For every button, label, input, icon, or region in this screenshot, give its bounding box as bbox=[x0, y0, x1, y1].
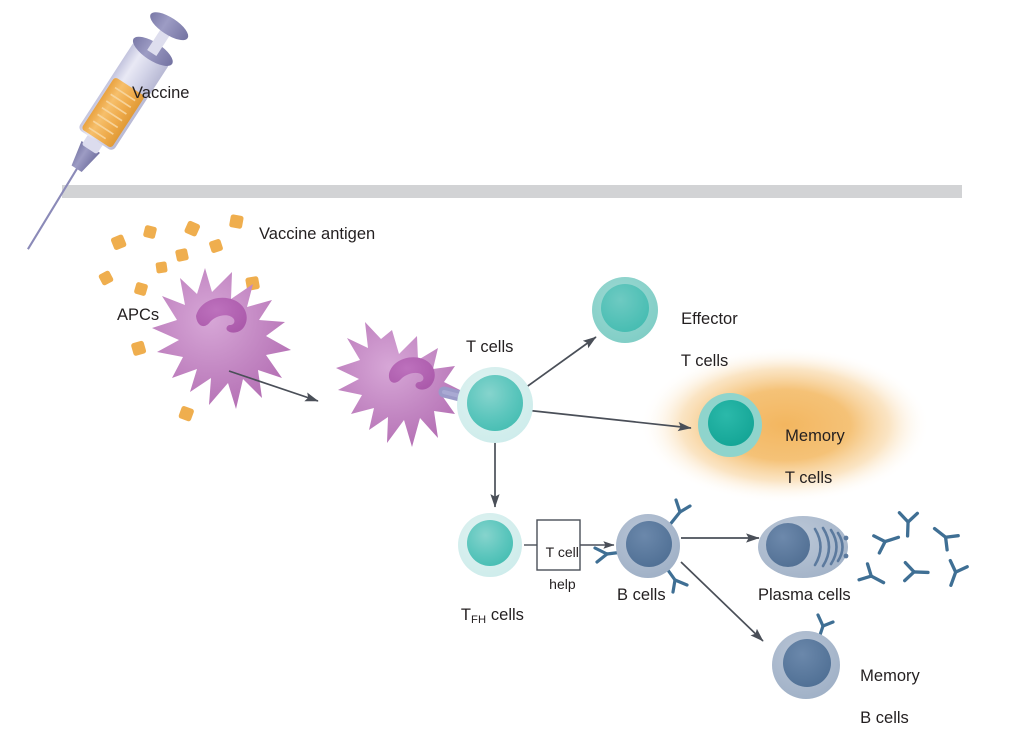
label-b-cells: B cells bbox=[617, 585, 666, 605]
label-memory-b-cells: Memory B cells bbox=[851, 645, 920, 729]
tfh-cell bbox=[458, 513, 522, 577]
arrow-bcell-to-memory-b bbox=[681, 562, 763, 641]
arrow-apc1-to-apc2 bbox=[229, 371, 318, 401]
effector-t-cell bbox=[592, 277, 658, 343]
label-t-cell-help-line2: help bbox=[549, 576, 575, 592]
plasma-cell bbox=[758, 516, 848, 578]
diagram-canvas: Vaccine Vaccine antigen APCs T cells Eff… bbox=[0, 0, 1024, 725]
t-cell bbox=[457, 367, 533, 443]
label-t-cell-help: T cell help bbox=[537, 528, 580, 592]
label-tfh-suffix: cells bbox=[486, 606, 524, 624]
skin-surface-bar bbox=[62, 185, 962, 198]
memory-b-cell bbox=[772, 615, 840, 699]
label-vaccine: Vaccine bbox=[132, 83, 189, 103]
label-tfh-subscript: FH bbox=[471, 614, 486, 626]
label-memory-t-cells-line2: T cells bbox=[785, 469, 832, 487]
syringe-icon bbox=[6, 7, 193, 261]
apc-cell-1 bbox=[152, 268, 291, 409]
label-effector-t-cells-line2: T cells bbox=[681, 352, 728, 370]
label-memory-b-cells-line2: B cells bbox=[860, 709, 909, 727]
label-effector-t-cells-line1: Effector bbox=[681, 310, 738, 328]
label-apcs: APCs bbox=[117, 305, 159, 325]
free-antibodies bbox=[859, 513, 967, 591]
memory-t-cell bbox=[698, 393, 762, 457]
label-tfh-cells: TFH cells bbox=[452, 585, 524, 630]
label-vaccine-antigen: Vaccine antigen bbox=[259, 224, 375, 244]
label-t-cells: T cells bbox=[466, 337, 513, 357]
apc-cell-2 bbox=[336, 322, 464, 447]
b-cell bbox=[595, 500, 690, 592]
label-tfh-prefix: T bbox=[461, 606, 471, 624]
arrow-tcell-to-effector bbox=[525, 337, 596, 388]
label-plasma-cells: Plasma cells bbox=[758, 585, 851, 605]
label-memory-t-cells: Memory T cells bbox=[776, 405, 845, 489]
label-memory-t-cells-line1: Memory bbox=[785, 427, 845, 445]
label-t-cell-help-line1: T cell bbox=[546, 544, 579, 560]
label-effector-t-cells: Effector T cells bbox=[672, 288, 738, 372]
label-memory-b-cells-line1: Memory bbox=[860, 667, 920, 685]
